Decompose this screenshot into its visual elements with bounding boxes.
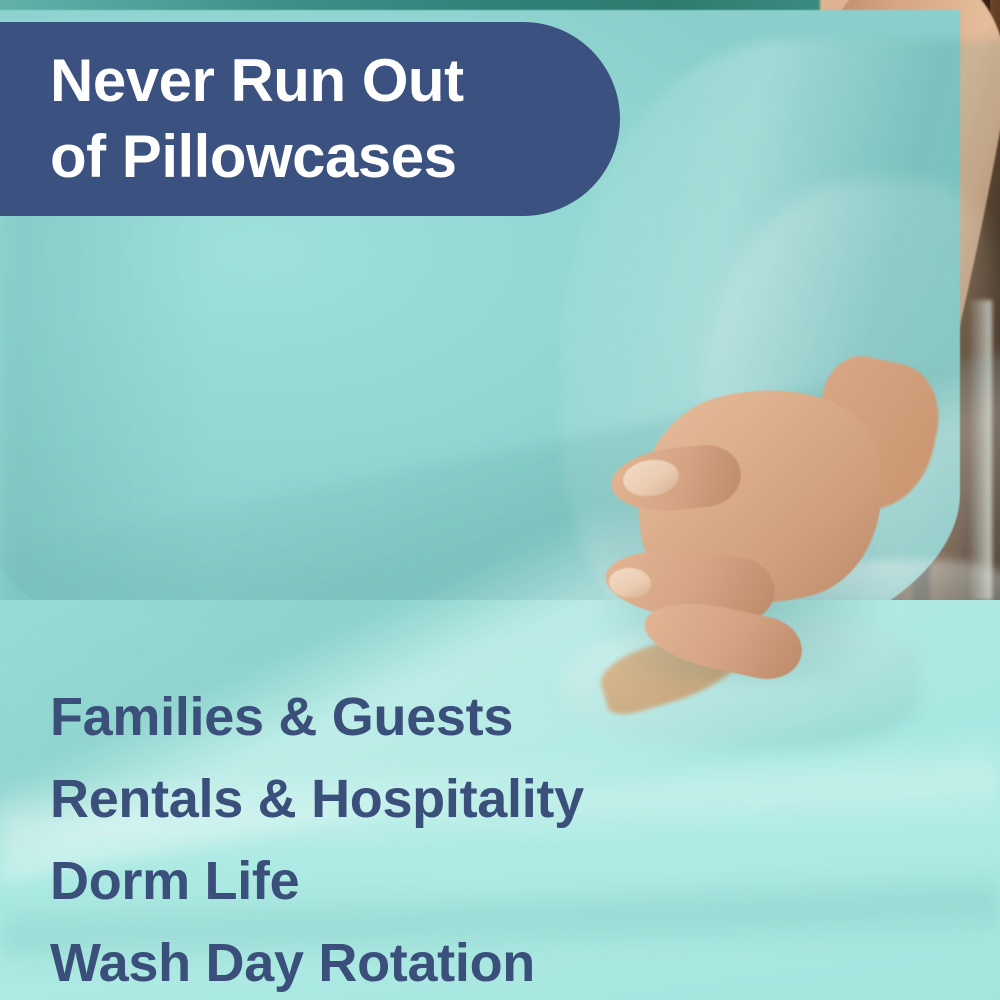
infographic-canvas: Never Run Out of Pillowcases Families & … <box>0 0 1000 1000</box>
headline-banner: Never Run Out of Pillowcases <box>0 22 620 216</box>
benefit-item-families-guests: Families & Guests <box>50 676 750 758</box>
benefit-item-wash-day-rotation: Wash Day Rotation <box>50 922 750 1000</box>
hand-on-pillow <box>605 380 905 680</box>
benefit-item-dorm-life: Dorm Life <box>50 840 750 922</box>
page-title: Never Run Out of Pillowcases <box>50 43 464 195</box>
benefit-list: Families & Guests Rentals & Hospitality … <box>50 676 750 1000</box>
benefit-item-rentals-hospitality: Rentals & Hospitality <box>50 758 750 840</box>
